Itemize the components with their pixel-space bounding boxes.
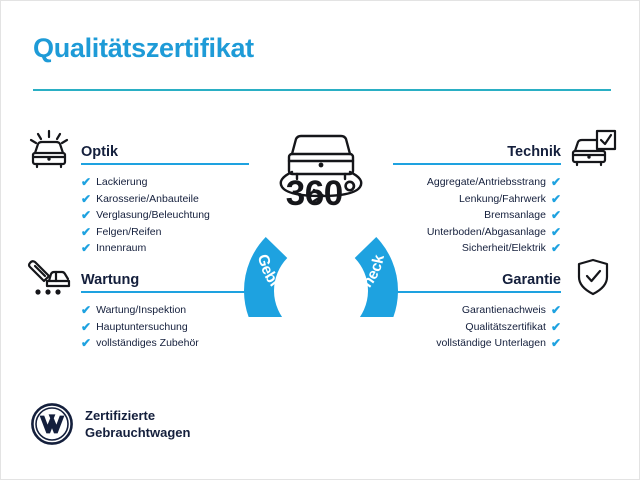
check-icon: ✔ [551,304,561,316]
footer-text: Zertifizierte Gebrauchtwagen [85,407,190,441]
shield-check-icon [569,257,617,295]
footer-line-1: Zertifizierte [85,407,190,424]
badge-center-label: 360° [230,174,412,214]
list-item: ✔vollständige Unterlagen [393,335,617,352]
car-service-tool-icon [25,257,73,295]
section-header: Garantie [393,259,617,293]
check-icon: ✔ [81,209,91,221]
list-item: ✔Bremsanlage [393,207,617,224]
list-item: ✔Lackierung [25,174,249,191]
list-item-label: Sicherheit/Elektrik [462,240,546,257]
check-icon: ✔ [81,304,91,316]
section-header: Technik [393,131,617,165]
check-icon: ✔ [551,321,561,333]
list-item-label: Innenraum [96,240,146,257]
list-item: ✔Qualitätszertifikat [393,319,617,336]
list-item-label: Unterboden/Abgasanlage [427,224,546,241]
section-title: Garantie [502,272,561,288]
list-item-label: Lackierung [96,174,147,191]
vw-logo-icon [31,403,73,445]
list-item: ✔Garantienachweis [393,302,617,319]
section-technik: Technik ✔Aggregate/Antriebsstrang ✔Lenku… [393,131,617,257]
list-item: ✔Felgen/Reifen [25,224,249,241]
badge-graphic: Gebrauchtwagen-Check [230,119,412,317]
footer-lockup: Zertifizierte Gebrauchtwagen [31,403,190,445]
section-title: Technik [507,144,561,160]
list-item-label: Lenkung/Fahrwerk [459,191,546,208]
check-icon: ✔ [81,193,91,205]
check-icon: ✔ [81,242,91,254]
check-icon: ✔ [81,176,91,188]
list-item: ✔Innenraum [25,240,249,257]
checklist: ✔Aggregate/Antriebsstrang ✔Lenkung/Fahrw… [393,174,617,257]
section-divider [81,291,249,293]
check-icon: ✔ [551,242,561,254]
section-title: Optik [81,144,118,160]
list-item: ✔Verglasung/Beleuchtung [25,207,249,224]
check-icon: ✔ [551,226,561,238]
list-item: ✔vollständiges Zubehör [25,335,249,352]
list-item-label: Bremsanlage [484,207,546,224]
list-item-label: Felgen/Reifen [96,224,161,241]
list-item: ✔Hauptuntersuchung [25,319,249,336]
car-checkbox-icon [569,129,617,167]
list-item-label: vollständiges Zubehör [96,335,199,352]
checklist: ✔Garantienachweis ✔Qualitätszertifikat ✔… [393,302,617,352]
section-divider [393,291,561,293]
list-item-label: Verglasung/Beleuchtung [96,207,210,224]
list-item: ✔Lenkung/Fahrwerk [393,191,617,208]
list-item: ✔Karosserie/Anbauteile [25,191,249,208]
checklist: ✔Wartung/Inspektion ✔Hauptuntersuchung ✔… [25,302,249,352]
list-item-label: Wartung/Inspektion [96,302,186,319]
footer-line-2: Gebrauchtwagen [85,424,190,441]
section-garantie: Garantie ✔Garantienachweis ✔Qualitätszer… [393,259,617,352]
page-title: Qualitätszertifikat [33,33,254,64]
check-icon: ✔ [81,226,91,238]
list-item: ✔Wartung/Inspektion [25,302,249,319]
section-divider [81,163,249,165]
car-shine-icon [25,129,73,167]
check-icon: ✔ [551,209,561,221]
check-icon: ✔ [81,321,91,333]
list-item-label: Karosserie/Anbauteile [96,191,199,208]
section-optik: Optik ✔Lackierung ✔Karosserie/Anbauteile… [25,131,249,257]
checklist: ✔Lackierung ✔Karosserie/Anbauteile ✔Verg… [25,174,249,257]
section-wartung: Wartung ✔Wartung/Inspektion ✔Hauptunters… [25,259,249,352]
check-icon: ✔ [551,176,561,188]
section-divider [393,163,561,165]
certificate-page: Qualitätszertifikat Optik [0,0,640,480]
list-item: ✔Unterboden/Abgasanlage [393,224,617,241]
check-icon: ✔ [81,337,91,349]
list-item-label: vollständige Unterlagen [436,335,546,352]
section-header: Optik [25,131,249,165]
list-item-label: Qualitätszertifikat [465,319,546,336]
list-item: ✔Sicherheit/Elektrik [393,240,617,257]
list-item-label: Garantienachweis [462,302,546,319]
list-item-label: Aggregate/Antriebsstrang [427,174,546,191]
check-icon: ✔ [551,193,561,205]
list-item-label: Hauptuntersuchung [96,319,188,336]
check-icon: ✔ [551,337,561,349]
section-header: Wartung [25,259,249,293]
badge-360-gebrauchtwagen-check: Gebrauchtwagen-Check 360° [230,119,412,317]
title-divider [33,89,611,91]
section-title: Wartung [81,272,139,288]
list-item: ✔Aggregate/Antriebsstrang [393,174,617,191]
